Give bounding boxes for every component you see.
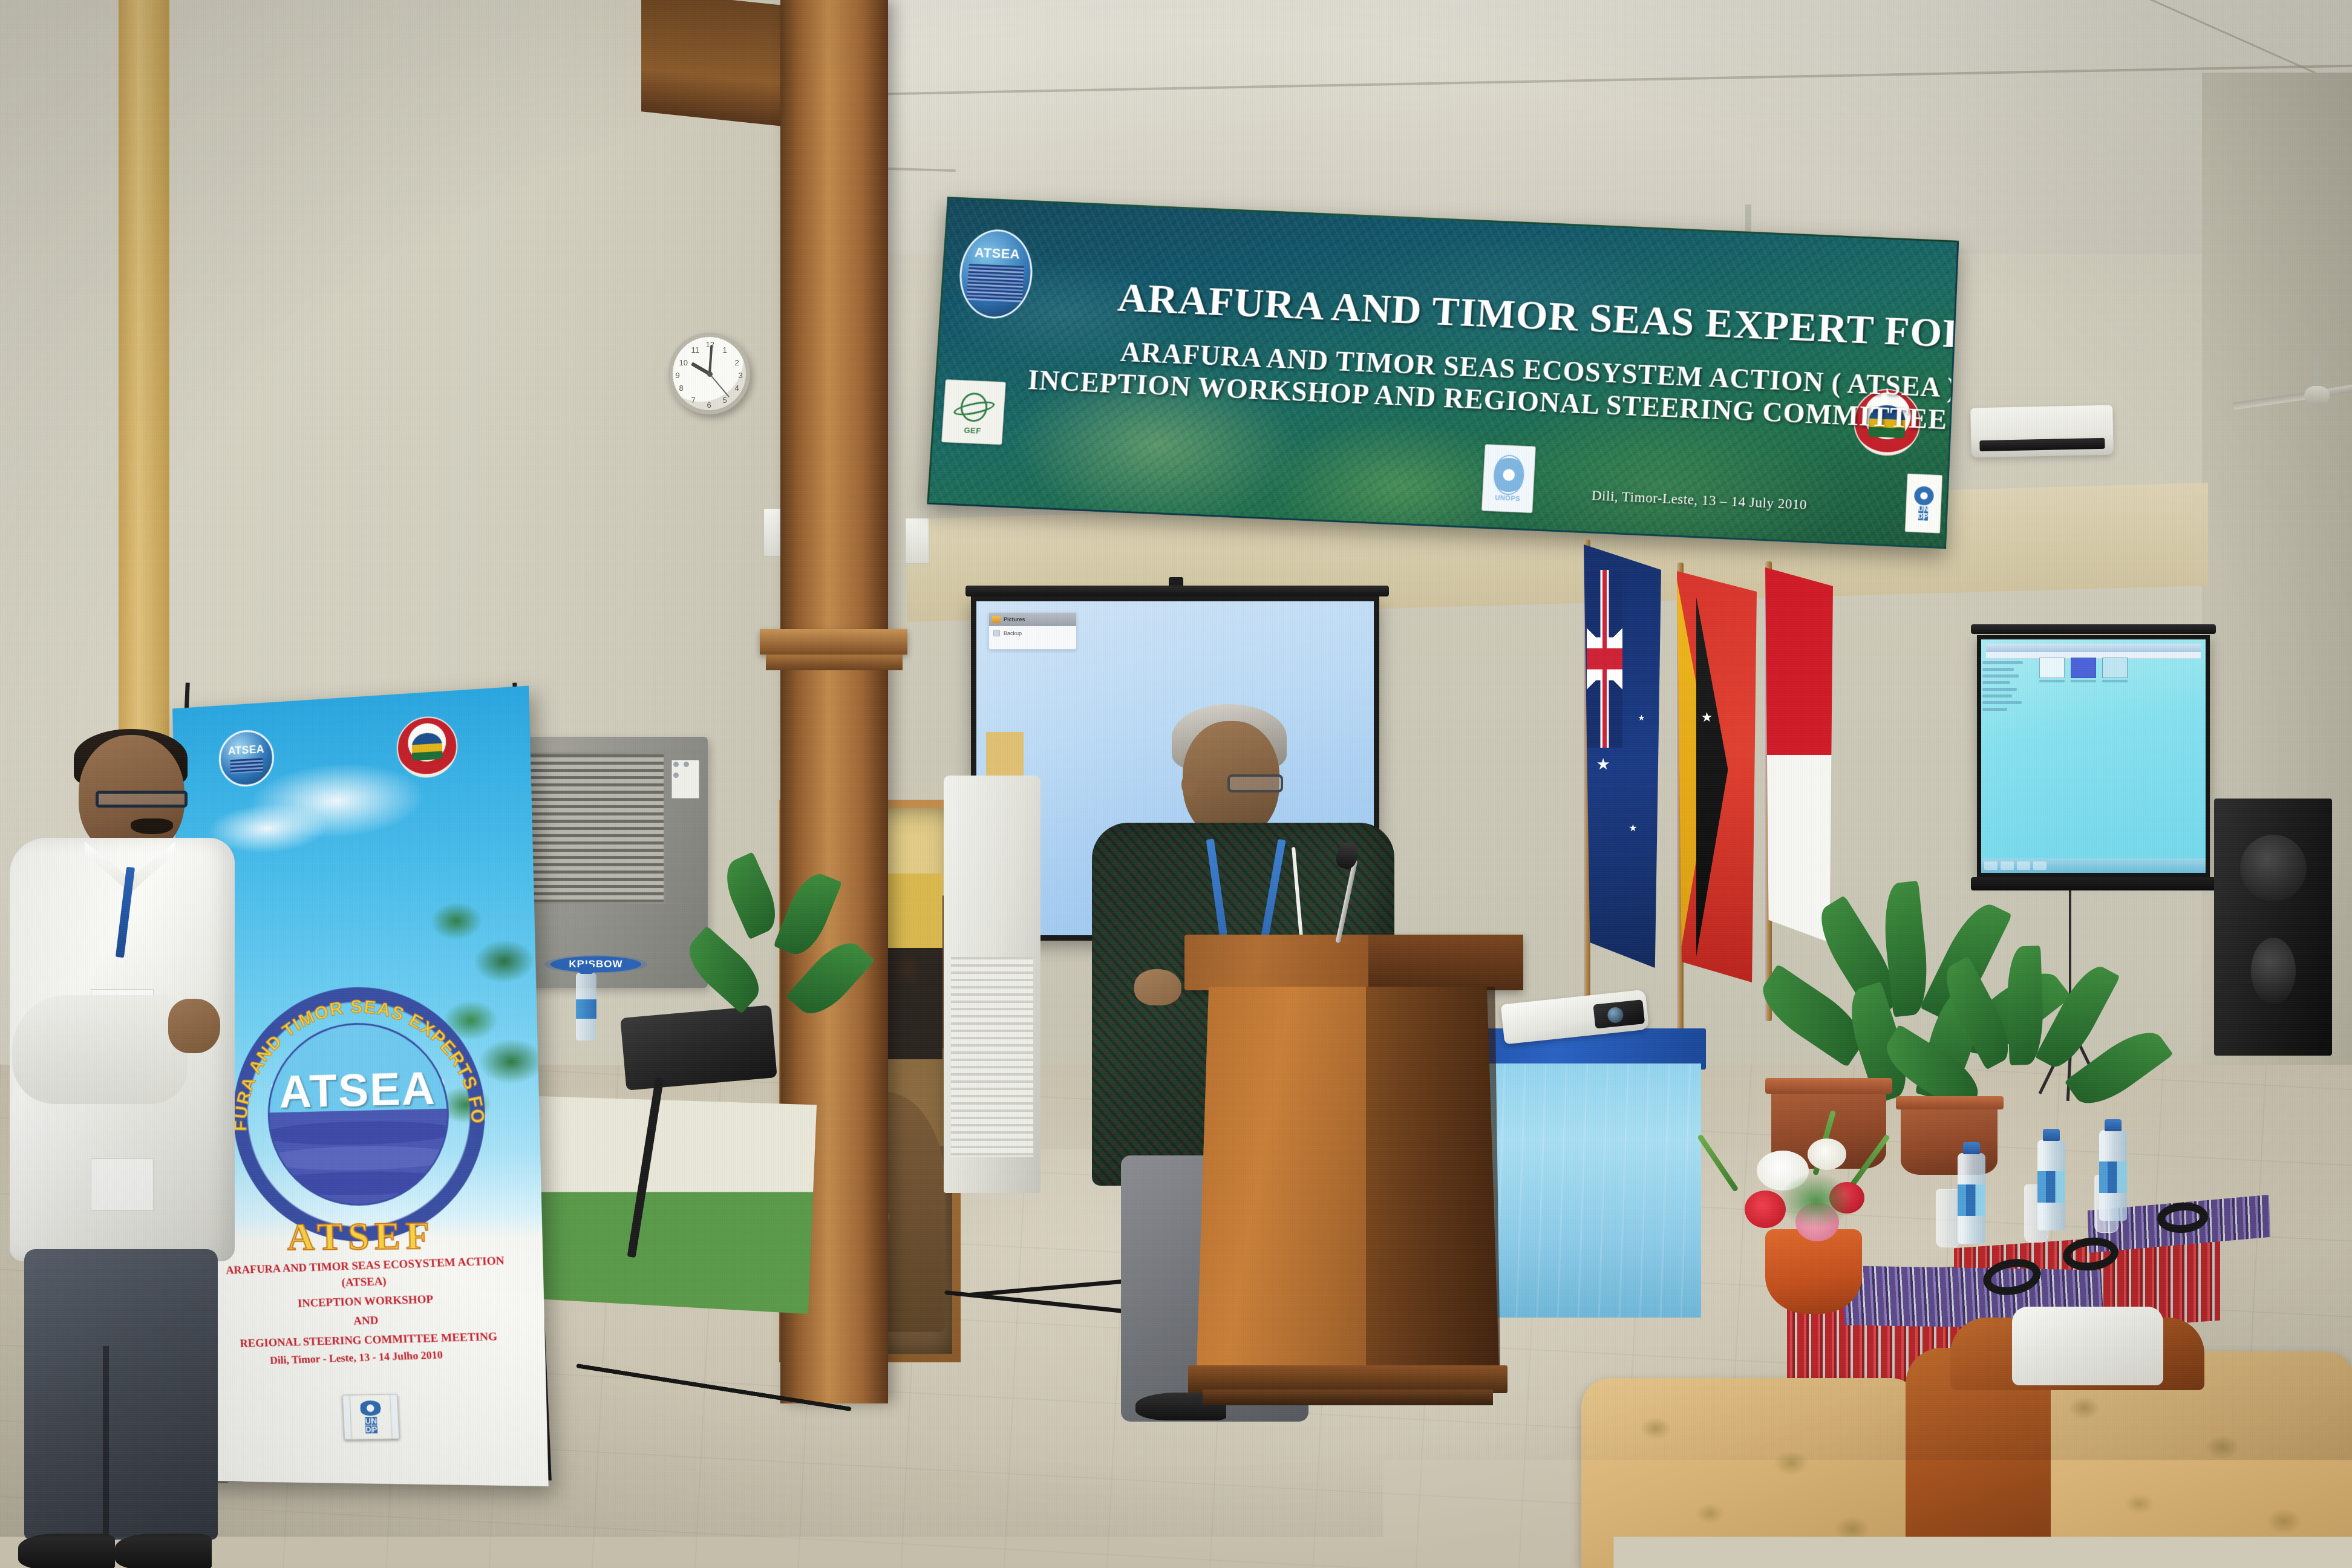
foliage-cluster [1780,1174,1852,1228]
trouser-seam [103,1346,109,1540]
mustache [131,818,173,834]
speaker-ear [1181,773,1197,796]
pot-rim [1765,1078,1892,1094]
sidebar-row [1982,661,2023,664]
clock-numeral: 2 [735,358,739,367]
wall-switch-plate[interactable] [905,518,929,564]
explorer-taskbar [1981,858,2206,873]
explorer-title-bar [1986,644,2201,652]
dialog-item-label: Backup [1004,630,1022,636]
taskbar-button [2017,861,2030,870]
un-emblem-icon [359,1400,382,1416]
speaker-driver [2251,938,2296,1004]
file-caption [2071,680,2096,682]
pa-loudspeaker [2214,799,2332,1056]
atsea-roundel-label: ATSEA [974,246,1021,261]
clock-numeral: 3 [739,371,743,380]
dark-trousers [24,1249,218,1540]
white-lily [1808,1138,1846,1170]
drinking-glass [1936,1189,1960,1247]
sidebar-row [1982,701,2022,704]
file-caption [2102,680,2128,682]
unops-logo-label: UNOPS [1495,495,1520,503]
file-caption [2039,680,2065,682]
wave-band [266,1119,451,1146]
clock-numeral: 9 [676,371,680,380]
pot-rim [1896,1096,2004,1109]
fan-hub [2304,386,2330,405]
eyeglasses-icon [96,791,188,808]
union-jack-cross [1587,570,1622,748]
sidebar-row [1982,668,2014,671]
dialog-body: Backup [989,626,1076,640]
header-banner: ATSEA GEF UNOPS UNDP ARAFURA AND TIMOR S… [927,197,1959,549]
podium-plinth [1203,1390,1493,1405]
emblem-center-word: ATSEA [269,1062,448,1119]
wave-icon [967,264,1024,302]
undp-logo: UNDP [350,1394,393,1440]
podium-side-panel [1366,987,1500,1368]
clock-numeral: 1 [723,345,727,354]
clock-numeral: 4 [735,384,739,393]
un-emblem-icon [1492,454,1525,495]
federation-star-icon: ★ [1628,824,1637,834]
plant-leaf [717,852,785,939]
undp-letters: UNDP [365,1417,377,1433]
bottle-label [2037,1171,2065,1203]
palm-leaf [1935,956,2019,1070]
explorer-file-grid [2039,658,2128,682]
file-tile [2071,658,2096,682]
floral-sofa-left [1581,1378,1920,1568]
sidebar-row [1982,688,2017,691]
cooler-grille [518,753,665,904]
bottle-label [2099,1161,2127,1193]
file-tile [2102,658,2128,682]
pillar-capital-lower [766,655,903,670]
dialog-title-bar: Pictures [989,613,1076,626]
wall-clock: 12 1 2 3 4 5 6 7 8 9 10 11 [668,333,750,414]
ac-vent-grille [951,957,1033,1157]
wooden-podium [1184,935,1523,1413]
clock-numeral: 5 [723,396,727,405]
water-bottle [2037,1140,2065,1230]
file-thumbnail [2071,658,2096,678]
shoe [115,1534,212,1568]
shoe [18,1534,115,1568]
sidebar-row [1982,694,2012,697]
secondary-projection-screen [1977,635,2210,877]
folder-icon [992,616,1001,623]
floor-standing-air-conditioner [944,776,1040,1193]
screen-roller-bar [965,586,1389,596]
file-tile [2039,658,2065,682]
cooler-control-panel[interactable] [671,760,699,799]
plant-leaf [773,867,842,961]
right-hand [168,999,220,1053]
man-white-shirt [6,735,242,1568]
pillar-capital [760,629,907,655]
flag-black-triangle [1696,596,1728,958]
water-bottle [576,973,596,1040]
federation-star-icon: ★ [1638,714,1645,722]
ac-vent [1979,438,2105,451]
flag-white-star-icon: ★ [1701,711,1713,724]
gef-globe-icon [952,388,996,427]
seal-core [411,732,442,760]
flag-timor-leste: ★ [1677,571,1757,982]
potted-plant [705,847,851,1053]
undp-logo: UNDP [1905,474,1942,534]
bottle-cap [580,964,593,974]
white-cushion [2012,1307,2163,1385]
sidebar-row [1982,708,2007,711]
flag-australia: ★ ★ ★ [1584,544,1661,968]
file-thumbnail [2102,658,2128,678]
podium-top-edge [1368,935,1523,990]
shirt-pocket [91,1158,154,1210]
right-arm [12,995,188,1104]
cooler-button[interactable] [673,773,679,778]
cooler-button[interactable] [673,762,679,767]
unops-logo: UNOPS [1481,444,1536,513]
water-bottle [1958,1153,1985,1244]
clock-numeral: 11 [691,345,700,354]
commonwealth-star-icon: ★ [1596,756,1610,772]
ceiling-fan [2232,357,2352,423]
cooler-button[interactable] [684,762,689,767]
evaporative-air-cooler: KRISBOW [508,737,708,988]
wall-air-conditioner [1970,405,2114,458]
file-icon [993,630,1000,636]
eyeglasses-icon [1227,774,1283,792]
explorer-sidebar [1982,658,2032,714]
gef-logo: GEF [941,379,1006,445]
conference-room-photo: ATSEA GEF UNOPS UNDP ARAFURA AND TIMOR S… [0,0,2352,1568]
cooler-brand-label: KRISBOW [544,955,647,973]
side-table-skirt [532,1096,817,1314]
rollup-text-block: ARAFURA AND TIMOR SEAS ECOSYSTEM ACTION … [204,1252,532,1353]
projected-dialog-window: Pictures Backup [988,612,1077,650]
clock-second-hand [709,373,730,397]
bottle-cap [2105,1119,2122,1131]
clock-minute-hand [708,344,713,373]
bottle-cap [2043,1129,2060,1141]
undp-letters: UNDP [1918,506,1929,521]
bottle-label [576,999,596,1019]
dialog-title: Pictures [1004,616,1025,622]
bottle-label [1958,1184,1985,1216]
palm-leaf [2005,946,2045,1065]
clock-numeral: 6 [707,400,711,410]
atsef-emblem: ARAFURA AND TIMOR SEAS EXPERTS FORUM ARA… [230,983,488,1243]
clock-numeral: 10 [679,358,688,367]
gef-logo-label: GEF [964,426,981,436]
sidebar-row [1982,675,2019,678]
rollup-footer-logos: GEF UNOPS UNDP [212,1414,534,1420]
clock-numeral: 7 [691,396,696,405]
bottle-cap [1963,1142,1980,1154]
right-screen-roller-bar [1971,624,2216,634]
sidebar-row [1982,681,2010,684]
taskbar-button [1984,861,1998,870]
clock-center-pin [707,371,713,377]
wave-band [266,1145,451,1171]
clock-numeral: 8 [679,384,684,393]
file-thumbnail [2039,658,2065,678]
green-frond [1847,1134,1890,1191]
fan-rod [2314,357,2320,388]
taskbar-button [2033,861,2047,870]
water-bottle [2099,1130,2127,1221]
flower-arrangement [1728,1118,1909,1257]
speaker-driver [2240,835,2307,901]
un-emblem-icon [1914,486,1935,506]
taskbar-button [2001,861,2014,870]
speaker-left-hand [1134,969,1181,1005]
timor-leste-seal [396,715,459,780]
